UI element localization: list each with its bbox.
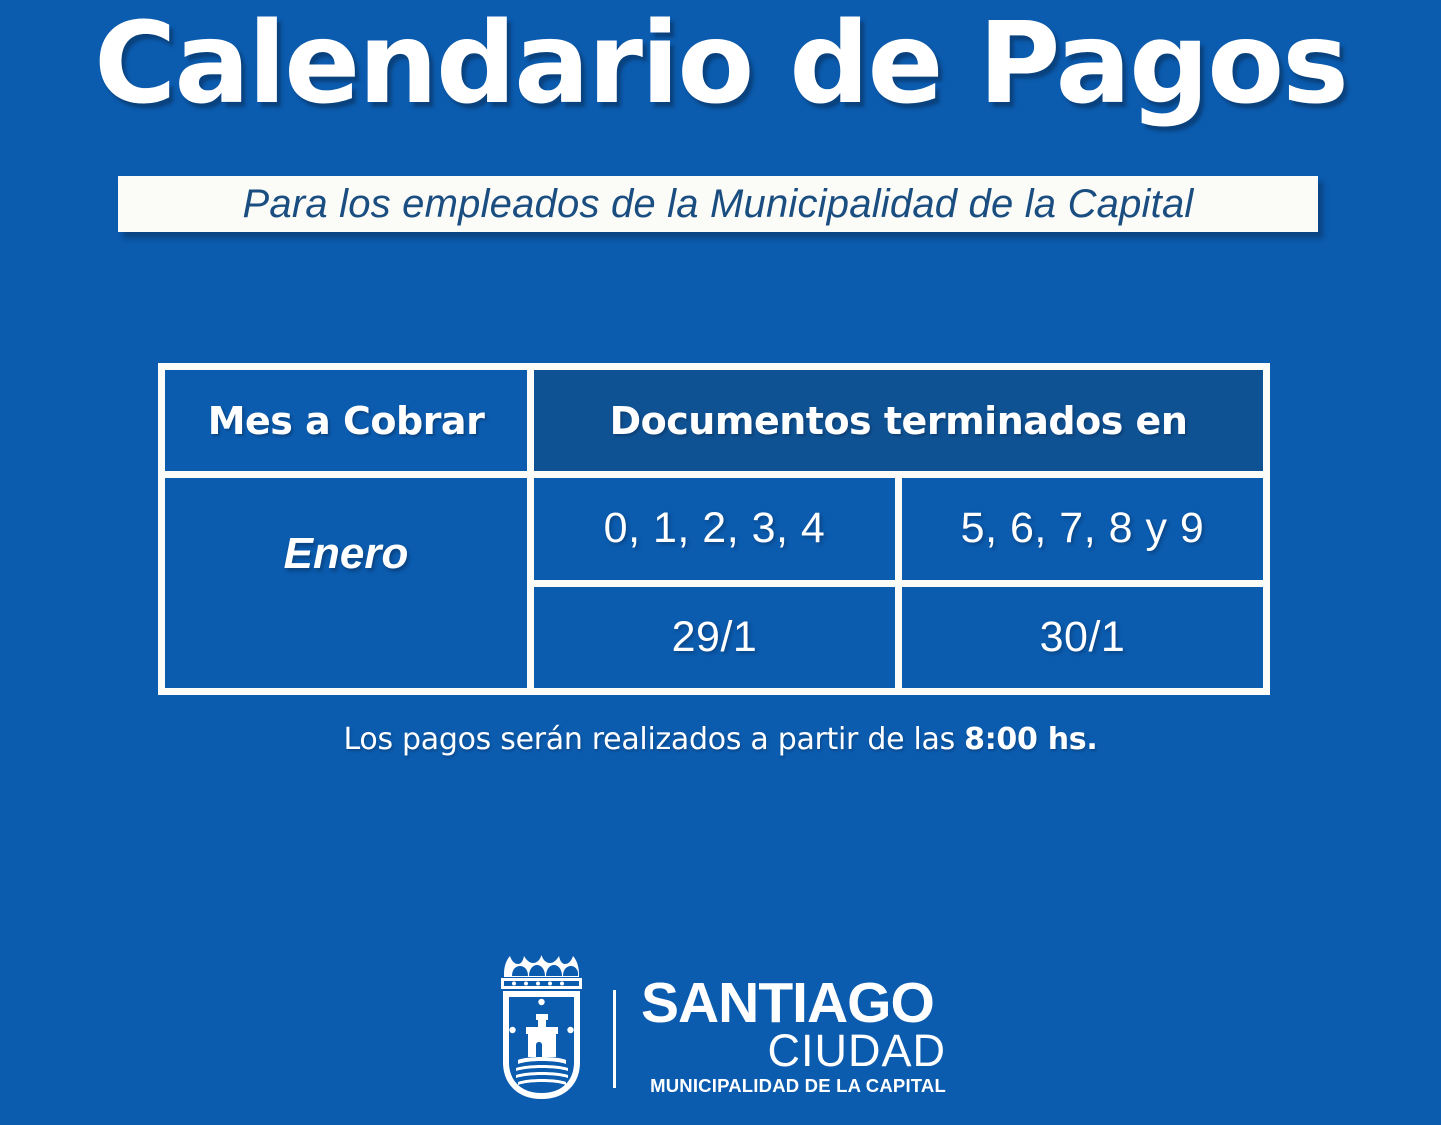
- logo-name-santiago: SANTIAGO: [641, 978, 946, 1028]
- table-cell-date-group-2: 30/1: [902, 587, 1263, 689]
- payment-time-note: Los pagos serán realizados a partir de l…: [0, 722, 1441, 757]
- table-header-documentos-terminados-en: Documentos terminados en: [534, 370, 1263, 471]
- santiago-coat-of-arms-icon: [496, 944, 596, 1102]
- subtitle-text: Para los empleados de la Municipalidad d…: [243, 182, 1194, 227]
- table-dates-row: 29/1 30/1: [534, 587, 1263, 689]
- logo-wordmark: SANTIAGO CIUDAD MUNICIPALIDAD DE LA CAPI…: [641, 978, 946, 1097]
- payment-time-note-prefix: Los pagos serán realizados a partir de l…: [344, 722, 965, 757]
- logo-tagline-municipalidad: MUNICIPALIDAD DE LA CAPITAL: [641, 1075, 946, 1097]
- table-header-mes-a-cobrar: Mes a Cobrar: [165, 370, 527, 471]
- page-title: Calendario de Pagos: [0, 8, 1441, 120]
- table-cell-date-group-1: 29/1: [534, 587, 895, 689]
- payment-calendar-table: Mes a Cobrar Documentos terminados en En…: [158, 363, 1270, 695]
- table-cell-digits-group-1: 0, 1, 2, 3, 4: [534, 478, 895, 580]
- table-header-row: Mes a Cobrar Documentos terminados en: [165, 370, 1263, 471]
- logo-divider: [613, 990, 616, 1088]
- payment-time-value: 8:00 hs.: [964, 722, 1097, 757]
- santiago-ciudad-logo: SANTIAGO CIUDAD MUNICIPALIDAD DE LA CAPI…: [496, 944, 946, 1104]
- table-row: Enero 0, 1, 2, 3, 4 5, 6, 7, 8 y 9 29/1 …: [165, 478, 1263, 688]
- subtitle-banner: Para los empleados de la Municipalidad d…: [118, 176, 1318, 232]
- table-cell-digits-group-2: 5, 6, 7, 8 y 9: [902, 478, 1263, 580]
- table-digits-column: 0, 1, 2, 3, 4 5, 6, 7, 8 y 9 29/1 30/1: [534, 478, 1263, 688]
- table-digits-row: 0, 1, 2, 3, 4 5, 6, 7, 8 y 9: [534, 478, 1263, 580]
- table-cell-month-enero: Enero: [165, 478, 527, 688]
